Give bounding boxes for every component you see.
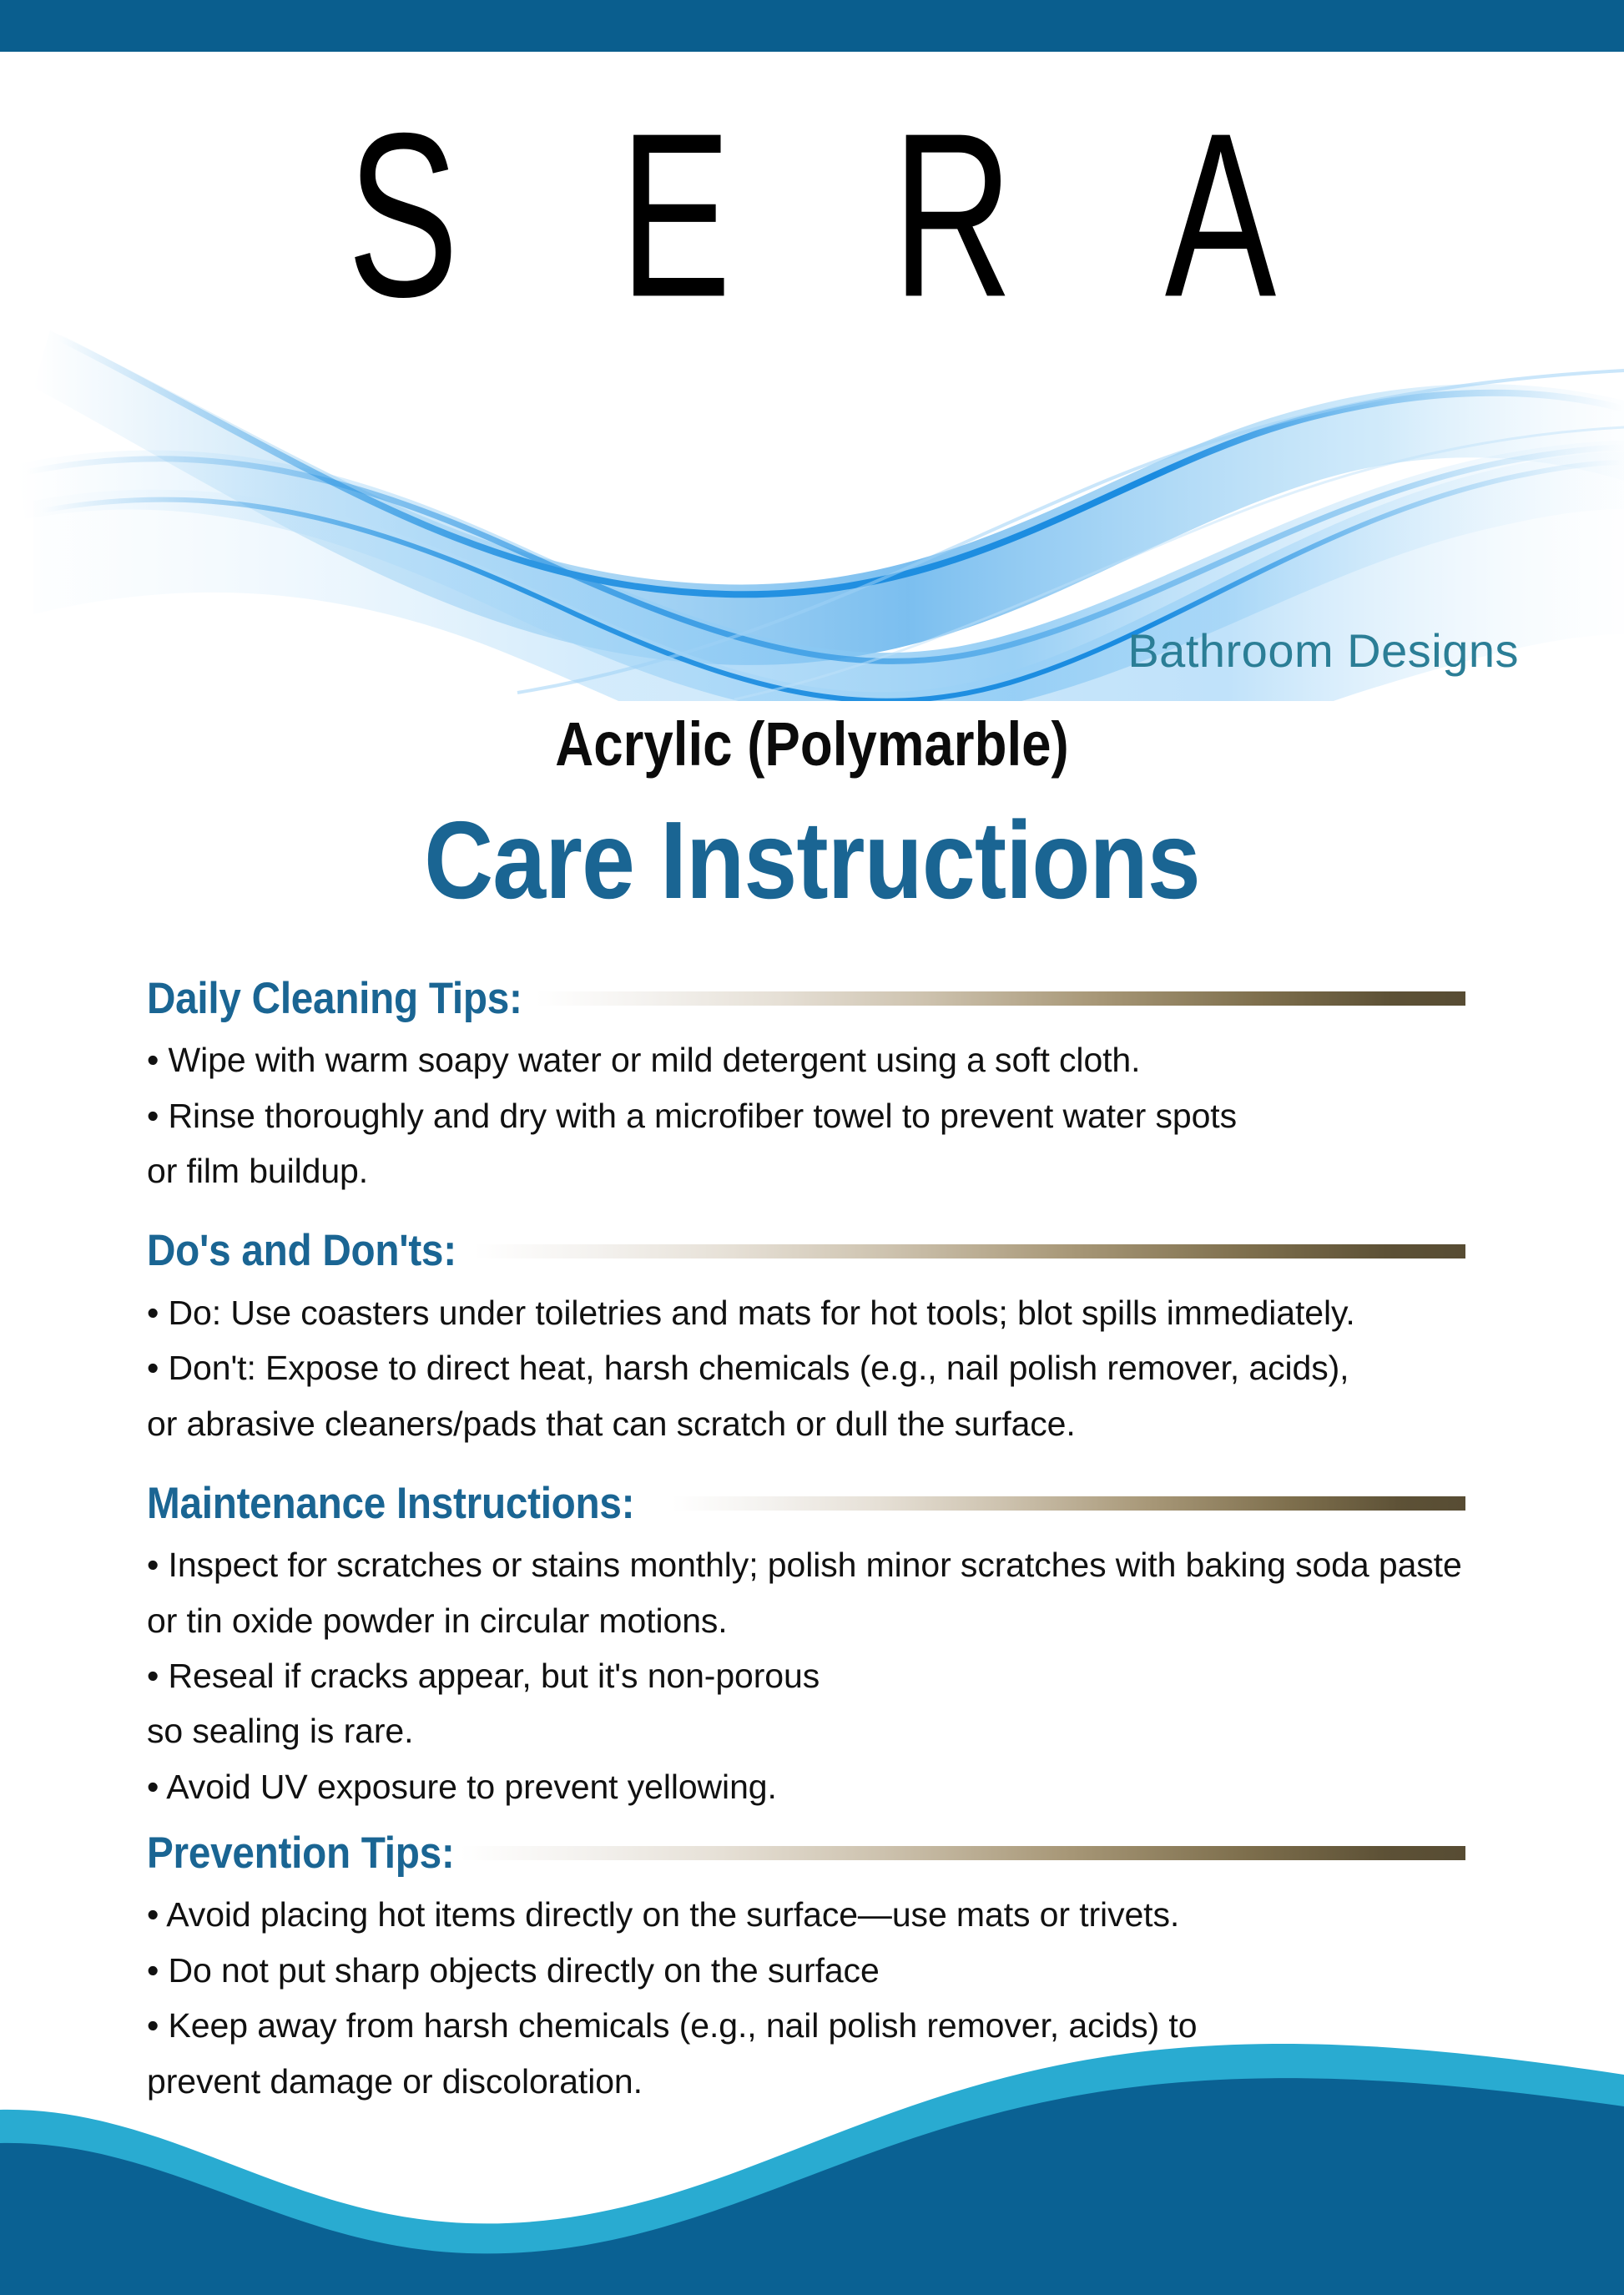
section-heading: Do's and Don'ts: (147, 1227, 456, 1274)
bullet-line: • Reseal if cracks appear, but it's non-… (147, 1648, 1599, 1703)
brand-tagline: Bathroom Designs (0, 628, 1519, 674)
bullet-line: • Wipe with warm soapy water or mild det… (147, 1032, 1599, 1087)
section-header-row: Daily Cleaning Tips: (147, 975, 1465, 1022)
section-heading: Prevention Tips: (147, 1829, 455, 1877)
section-daily-cleaning-tips: Daily Cleaning Tips: • Wipe with warm so… (147, 975, 1599, 1198)
bullet-line: or tin oxide powder in circular motions. (147, 1593, 1599, 1648)
section-bullets: • Do: Use coasters under toiletries and … (147, 1285, 1599, 1451)
section-divider-rule (460, 1846, 1465, 1860)
section-bullets: • Inspect for scratches or stains monthl… (147, 1537, 1599, 1814)
section-heading: Maintenance Instructions: (147, 1480, 634, 1527)
bullet-line: so sealing is rare. (147, 1703, 1599, 1758)
section-heading: Daily Cleaning Tips: (147, 975, 522, 1022)
section-bullets: • Wipe with warm soapy water or mild det… (147, 1032, 1599, 1198)
brand-logo: S E R A (0, 98, 1624, 307)
bullet-line: prevent damage or discoloration. (147, 2054, 1599, 2109)
section-divider-rule (672, 1496, 1465, 1511)
bullet-line: • Do: Use coasters under toiletries and … (147, 1285, 1599, 1340)
bullet-line: • Avoid UV exposure to prevent yellowing… (147, 1759, 1599, 1814)
bullet-line: or abrasive cleaners/pads that can scrat… (147, 1396, 1599, 1451)
bullet-line: or film buildup. (147, 1143, 1599, 1198)
section-maintenance-instructions: Maintenance Instructions: • Inspect for … (147, 1480, 1599, 1814)
bullet-line: • Don't: Expose to direct heat, harsh ch… (147, 1340, 1599, 1395)
bullet-line: • Avoid placing hot items directly on th… (147, 1887, 1599, 1942)
document-subtitle: Acrylic (Polymarble) (113, 714, 1511, 775)
bullet-line: • Inspect for scratches or stains monthl… (147, 1537, 1599, 1592)
section-divider-rule (536, 991, 1465, 1006)
section-divider-rule (474, 1244, 1465, 1258)
section-dos-and-donts: Do's and Don'ts: • Do: Use coasters unde… (147, 1227, 1599, 1450)
section-header-row: Do's and Don'ts: (147, 1227, 1465, 1274)
page-title: Care Instructions (105, 805, 1518, 915)
section-prevention-tips: Prevention Tips: • Avoid placing hot ite… (147, 1829, 1599, 2109)
section-header-row: Prevention Tips: (147, 1829, 1465, 1877)
bullet-line: • Do not put sharp objects directly on t… (147, 1943, 1599, 1998)
top-banner-bar (0, 0, 1624, 52)
bullet-line: • Keep away from harsh chemicals (e.g., … (147, 1998, 1599, 2053)
section-bullets: • Avoid placing hot items directly on th… (147, 1887, 1599, 2109)
section-header-row: Maintenance Instructions: (147, 1480, 1465, 1527)
content-body: Daily Cleaning Tips: • Wipe with warm so… (147, 975, 1599, 2116)
wave-line-1 (58, 337, 1624, 594)
brand-logo-text: S E R A (290, 98, 1334, 332)
wave-ribbon-1 (33, 330, 1624, 665)
bullet-line: • Rinse thoroughly and dry with a microf… (147, 1088, 1599, 1143)
